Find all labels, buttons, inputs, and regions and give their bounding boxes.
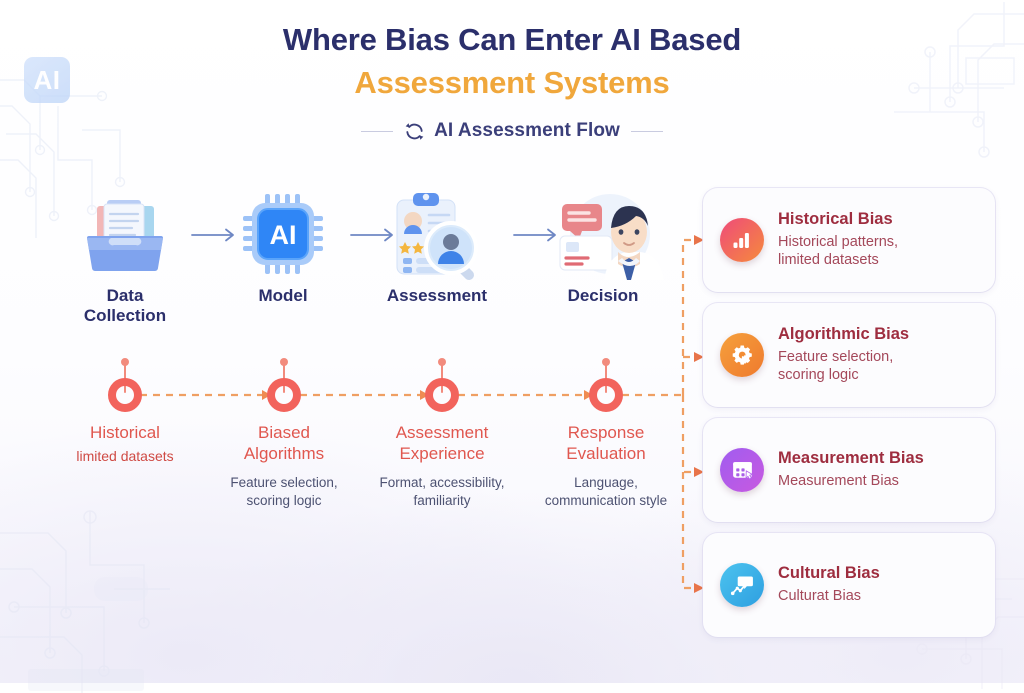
timeline-item-assessment-experience[interactable]: Assessment Experience Format, accessibil… (354, 422, 530, 510)
bar-chart-icon (720, 218, 764, 262)
bias-card-subtitle: Historical patterns, limited datasets (778, 233, 979, 271)
timeline-item-title: Assessment Experience (354, 422, 530, 465)
bias-card-historical[interactable]: Historical Bias Historical patterns, lim… (703, 188, 995, 292)
chart-cursor-icon (720, 448, 764, 492)
infographic-canvas: AI (0, 0, 1024, 683)
timeline-item-desc: Language, communication style (518, 474, 694, 510)
bias-card-title: Historical Bias (778, 210, 893, 228)
timeline-item-historical[interactable]: Historical limited datasets (37, 422, 213, 466)
gears-icon (720, 333, 764, 377)
bias-card-cultural[interactable]: Cultural Bias Culturat Bias (703, 533, 995, 637)
bias-card-list: Historical Bias Historical patterns, lim… (703, 188, 995, 648)
bias-card-title: Cultural Bias (778, 564, 880, 582)
timeline-item-response-evaluation[interactable]: Response Evaluation Language, communicat… (518, 422, 694, 510)
bias-card-measurement[interactable]: Measurement Bias Measurement Bias (703, 418, 995, 522)
bias-card-title: Algorithmic Bias (778, 325, 909, 343)
timeline-item-desc: Format, accessibility, familiarity (354, 474, 530, 510)
timeline-item-title: Biased Algorithms (196, 422, 372, 465)
timeline-item-biased-algorithms[interactable]: Biased Algorithms Feature selection, sco… (196, 422, 372, 510)
timeline-item-title: Response Evaluation (518, 422, 694, 465)
bias-card-subtitle: Measurement Bias (778, 472, 979, 491)
bias-card-algorithmic[interactable]: Algorithmic Bias Feature selection, scor… (703, 303, 995, 407)
speech-trend-icon (720, 563, 764, 607)
bias-card-subtitle: Culturat Bias (778, 587, 979, 606)
bias-card-subtitle: Feature selection, scoring logic (778, 348, 979, 386)
timeline-item-desc: limited datasets (37, 447, 213, 466)
bias-card-title: Measurement Bias (778, 449, 924, 467)
timeline-item-desc: Feature selection, scoring logic (196, 474, 372, 510)
timeline-item-title: Historical (37, 422, 213, 443)
